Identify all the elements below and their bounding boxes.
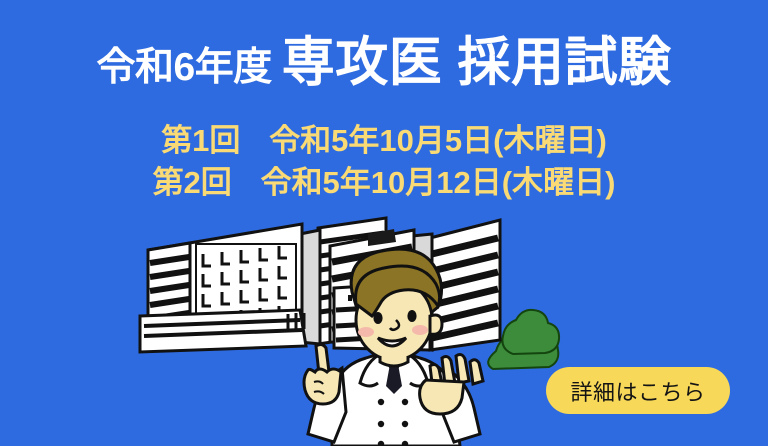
details-button[interactable]: 詳細はこちら bbox=[546, 367, 730, 414]
pointing-hand-icon bbox=[304, 344, 341, 404]
eye-right-icon bbox=[407, 310, 416, 322]
title-main-label: 専攻医 採用試験 bbox=[282, 33, 672, 92]
cheek-right-icon bbox=[412, 325, 428, 335]
recruitment-banner: 令和6年度専攻医 採用試験 第1回令和5年10月5日(木曜日) 第2回令和5年1… bbox=[0, 0, 768, 446]
exam-ordinal-1: 第1回 bbox=[161, 120, 269, 162]
exam-date-2: 令和5年10月12日(木曜日) bbox=[261, 162, 616, 204]
exam-ordinal-2: 第2回 bbox=[153, 162, 261, 204]
cheek-left-icon bbox=[358, 327, 374, 337]
exam-schedule-row-2: 第2回令和5年10月12日(木曜日) bbox=[0, 162, 768, 204]
exam-date-1: 令和5年10月5日(木曜日) bbox=[269, 120, 607, 162]
exam-schedule-list: 第1回令和5年10月5日(木曜日) 第2回令和5年10月12日(木曜日) bbox=[0, 120, 768, 204]
page-title: 令和6年度専攻医 採用試験 bbox=[0, 36, 768, 89]
exam-schedule-row-1: 第1回令和5年10月5日(木曜日) bbox=[0, 120, 768, 162]
eye-left-icon bbox=[373, 312, 382, 324]
title-era-label: 令和6年度 bbox=[97, 46, 272, 89]
